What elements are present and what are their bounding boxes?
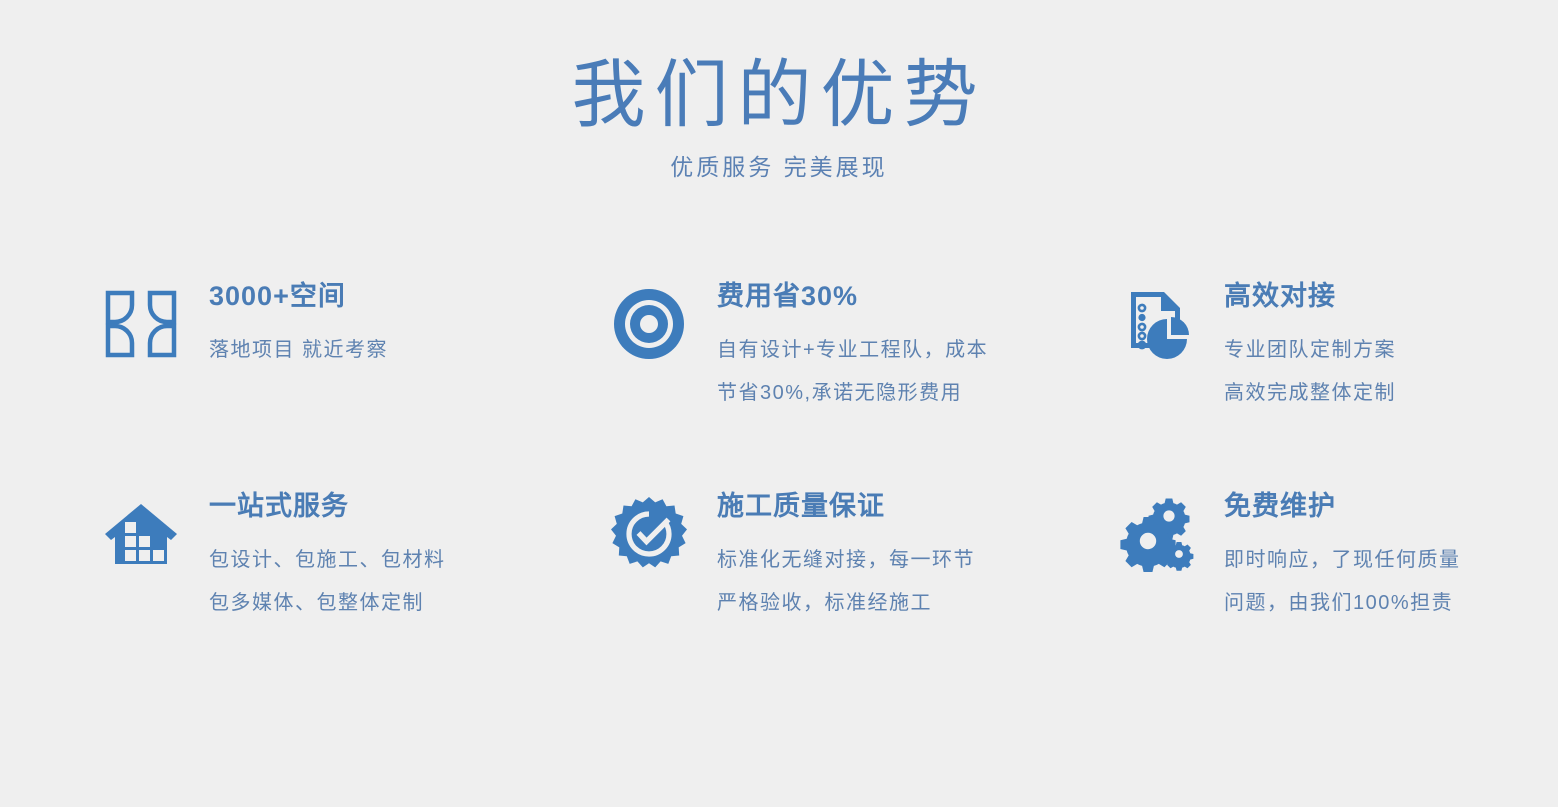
feature-title: 费用省30% <box>717 280 988 312</box>
feature-item-cost-saving: 费用省30% 自有设计+专业工程队，成本 节省30%,承诺无隐形费用 <box>611 280 1071 415</box>
feature-text-block: 高效对接 专业团队定制方案 高效完成整体定制 <box>1224 280 1396 415</box>
feature-item-spaces: 3000+空间 落地项目 就近考察 <box>103 280 563 372</box>
feature-description-line: 包多媒体、包整体定制 <box>209 582 446 625</box>
feature-item-one-stop-service: 一站式服务 包设计、包施工、包材料 包多媒体、包整体定制 <box>103 490 563 625</box>
document-pie-chart-icon <box>1118 286 1194 362</box>
page-subtitle: 优质服务 完美展现 <box>0 150 1558 184</box>
feature-description: 自有设计+专业工程队，成本 节省30%,承诺无隐形费用 <box>717 329 988 415</box>
feature-title: 一站式服务 <box>209 490 446 522</box>
feature-text-block: 免费维护 即时响应，了现任何质量 问题，由我们100%担责 <box>1224 490 1461 625</box>
feature-text-block: 施工质量保证 标准化无缝对接，每一环节 严格验收，标准经施工 <box>717 490 975 625</box>
quality-badge-check-icon <box>611 496 687 572</box>
page-title: 我们的优势 <box>0 52 1558 138</box>
feature-description: 包设计、包施工、包材料 包多媒体、包整体定制 <box>209 539 446 625</box>
feature-description-line: 即时响应，了现任何质量 <box>1224 539 1461 582</box>
feature-title: 3000+空间 <box>209 280 388 312</box>
feature-text-block: 3000+空间 落地项目 就近考察 <box>209 280 388 372</box>
four-petals-icon <box>103 286 179 362</box>
feature-item-quality-guarantee: 施工质量保证 标准化无缝对接，每一环节 严格验收，标准经施工 <box>611 490 1071 625</box>
features-grid: 3000+空间 落地项目 就近考察 费用省30% 自有设计+专业工程队，成本 <box>0 262 1558 722</box>
feature-description-line: 落地项目 就近考察 <box>209 329 388 372</box>
feature-description-line: 包设计、包施工、包材料 <box>209 539 446 582</box>
feature-item-free-maintenance: 免费维护 即时响应，了现任何质量 问题，由我们100%担责 <box>1118 490 1558 625</box>
target-bullseye-icon <box>611 286 687 362</box>
feature-description-line: 问题，由我们100%担责 <box>1224 582 1461 625</box>
feature-title: 施工质量保证 <box>717 490 975 522</box>
page-header: 我们的优势 优质服务 完美展现 <box>0 0 1558 184</box>
house-icon <box>103 496 179 572</box>
feature-text-block: 费用省30% 自有设计+专业工程队，成本 节省30%,承诺无隐形费用 <box>717 280 988 415</box>
feature-description: 落地项目 就近考察 <box>209 329 388 372</box>
feature-description: 专业团队定制方案 高效完成整体定制 <box>1224 329 1396 415</box>
feature-title: 免费维护 <box>1224 490 1461 522</box>
feature-description-line: 自有设计+专业工程队，成本 <box>717 329 988 372</box>
feature-description-line: 严格验收，标准经施工 <box>717 582 975 625</box>
feature-item-efficient-handover: 高效对接 专业团队定制方案 高效完成整体定制 <box>1118 280 1558 415</box>
gears-icon <box>1118 496 1194 572</box>
feature-text-block: 一站式服务 包设计、包施工、包材料 包多媒体、包整体定制 <box>209 490 446 625</box>
feature-title: 高效对接 <box>1224 280 1396 312</box>
feature-description-line: 节省30%,承诺无隐形费用 <box>717 372 988 415</box>
feature-description-line: 高效完成整体定制 <box>1224 372 1396 415</box>
feature-description: 标准化无缝对接，每一环节 严格验收，标准经施工 <box>717 539 975 625</box>
feature-description-line: 专业团队定制方案 <box>1224 329 1396 372</box>
feature-description-line: 标准化无缝对接，每一环节 <box>717 539 975 582</box>
feature-description: 即时响应，了现任何质量 问题，由我们100%担责 <box>1224 539 1461 625</box>
